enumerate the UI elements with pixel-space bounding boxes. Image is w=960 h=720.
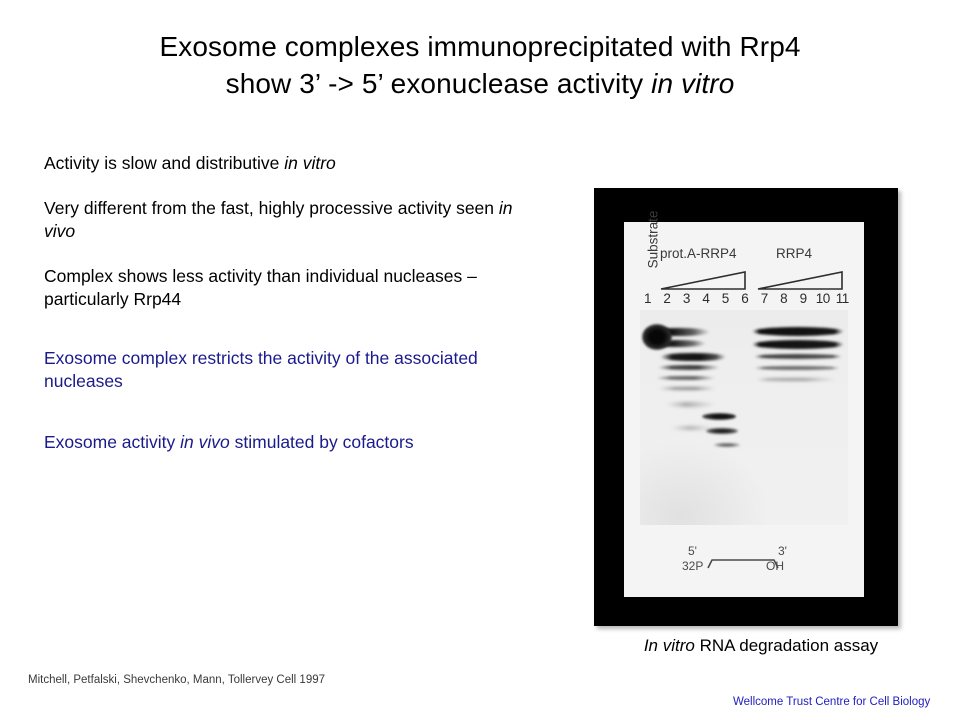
gel-band [660,353,726,361]
page-title: Exosome complexes immunoprecipitated wit… [0,28,960,102]
group-label-rrp4: RRP4 [776,246,812,261]
institution-text: Wellcome Trust Centre for Cell Biology [733,696,930,708]
paragraph-5-in-vivo: in vivo [180,432,230,452]
gel-band [754,366,840,370]
gel-band [752,340,844,349]
paragraph-exosome-stimulated: Exosome activity in vivo stimulated by c… [44,431,514,454]
citation-text: Mitchell, Petfalski, Shevchenko, Mann, T… [28,674,325,686]
title-in-vitro: in vitro [651,68,734,99]
gel-figure-panel: Substrate prot.A-RRP4 RRP4 1 2 3 4 5 6 7… [624,222,864,597]
caption-in-vitro: In vitro [644,636,695,655]
label-5-prime: 5' [688,544,697,558]
paragraph-5-text-pre: Exosome activity [44,432,180,452]
group-label-prota-rrp4: prot.A-RRP4 [660,246,737,261]
lane-number: 1 [638,291,657,306]
lane-number: 10 [813,291,832,306]
concentration-ramp-right-icon [756,269,844,291]
paragraph-2-text: Very different from the fast, highly pro… [44,198,499,218]
gel-band [656,376,716,380]
body-text-column: Activity is slow and distributive in vit… [44,152,514,454]
figure-caption: In vitro RNA degradation assay [596,636,926,656]
lane-number: 11 [833,291,852,306]
paragraph-activity-slow: Activity is slow and distributive in vit… [44,152,514,175]
paragraph-very-different: Very different from the fast, highly pro… [44,197,514,243]
lane-number: 2 [657,291,676,306]
lane-number: 6 [735,291,754,306]
spacer [44,393,514,431]
paragraph-1-text: Activity is slow and distributive [44,153,284,173]
gel-figure-mount: Substrate prot.A-RRP4 RRP4 1 2 3 4 5 6 7… [594,188,898,626]
lane-number-row: 1 2 3 4 5 6 7 8 9 10 11 [638,291,852,306]
gel-band [658,365,720,370]
lane-number: 3 [677,291,696,306]
lane-number: 5 [716,291,735,306]
gel-smear [666,402,716,407]
lane-number: 9 [794,291,813,306]
gel-band [752,327,844,336]
lane-number: 4 [696,291,715,306]
caption-rest: RNA degradation assay [695,636,878,655]
label-oh: OH [766,559,784,573]
lane-number: 7 [755,291,774,306]
label-32p: 32P [682,559,703,573]
gel-band [658,387,716,390]
gel-band-degradation-product [702,413,736,420]
gel-band [754,354,842,359]
rna-substrate-schematic: 5' 32P 3' OH [682,546,814,584]
paragraph-complex-less-activity: Complex shows less activity than individ… [44,265,514,311]
autoradiograph-film [640,310,848,525]
paragraph-5-text-post: stimulated by cofactors [230,432,414,452]
title-line-2-text: show 3’ -> 5’ exonuclease activity [226,68,652,99]
label-3-prime: 3' [778,544,787,558]
paragraph-exosome-restricts: Exosome complex restricts the activity o… [44,347,514,393]
spacer [44,311,514,347]
gel-band-degradation-product [706,428,738,434]
spacer [44,243,514,265]
paragraph-1-in-vitro: in vitro [284,153,336,173]
concentration-ramp-left-icon [659,269,747,291]
spacer [44,175,514,197]
gel-band-substrate-blob [642,324,672,350]
title-line-1: Exosome complexes immunoprecipitated wit… [0,28,960,65]
lane-number: 8 [774,291,793,306]
gel-band-degradation-product [714,443,740,447]
gel-band [756,378,838,381]
title-line-2: show 3’ -> 5’ exonuclease activity in vi… [0,65,960,102]
